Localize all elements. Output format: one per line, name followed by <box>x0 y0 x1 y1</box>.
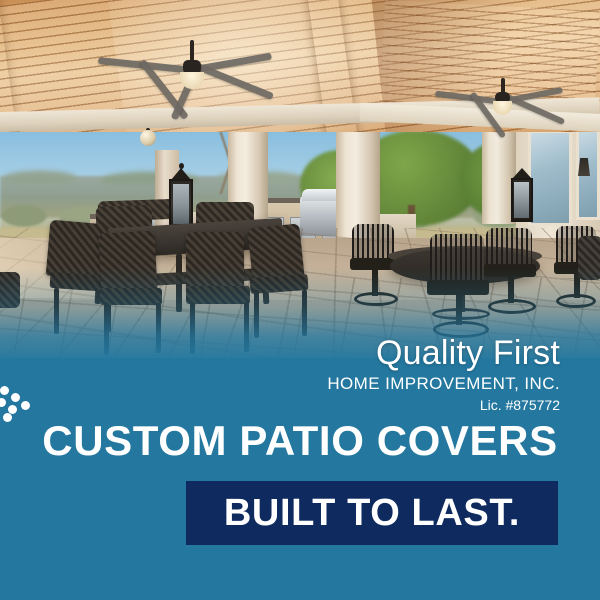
emphasis-text: BUILT TO LAST. <box>224 491 520 535</box>
chair-seat <box>100 288 162 305</box>
lantern-glass <box>173 184 189 224</box>
dot <box>11 393 20 402</box>
dot <box>0 398 6 407</box>
chair-leg <box>190 302 195 354</box>
chair-leg <box>302 290 307 336</box>
brand-lockup: Quality First HOME IMPROVEMENT, INC. Lic… <box>230 334 560 414</box>
patio-sofa <box>578 236 600 280</box>
emphasis-box: BUILT TO LAST. <box>186 481 558 545</box>
lantern-knob <box>179 163 184 169</box>
chair-leg <box>54 288 59 334</box>
chair-base <box>354 292 398 306</box>
chair-base <box>488 299 536 314</box>
license-number: Lic. #875772 <box>230 396 560 414</box>
chair-back <box>186 232 244 290</box>
chair-leg <box>156 303 161 353</box>
fan-light-kit <box>493 101 512 115</box>
lantern-glass <box>514 182 529 218</box>
fan-downrod <box>190 40 194 62</box>
ceiling-fan <box>140 40 310 120</box>
patio-photo <box>0 0 600 360</box>
chair-seat <box>186 286 250 304</box>
ceiling-fan <box>465 78 595 138</box>
chair-leg <box>104 303 109 355</box>
chair-leg <box>254 290 259 338</box>
headline: CUSTOM PATIO COVERS <box>0 416 600 466</box>
chair-back <box>98 231 157 294</box>
chair-back <box>247 223 304 282</box>
black-lantern-centerpiece <box>510 168 534 230</box>
chair-back <box>430 234 484 282</box>
patio-sofa <box>0 272 20 308</box>
dot <box>21 401 30 410</box>
brand-subtitle: HOME IMPROVEMENT, INC. <box>230 373 560 395</box>
dot <box>0 386 9 395</box>
chair-base <box>556 294 596 308</box>
advertisement-canvas: Quality First HOME IMPROVEMENT, INC. Lic… <box>0 0 600 600</box>
window <box>528 130 572 226</box>
chair-back <box>486 228 532 266</box>
pendant-light <box>140 130 156 146</box>
brand-name: Quality First <box>230 334 560 372</box>
fan-light-kit <box>180 72 204 89</box>
